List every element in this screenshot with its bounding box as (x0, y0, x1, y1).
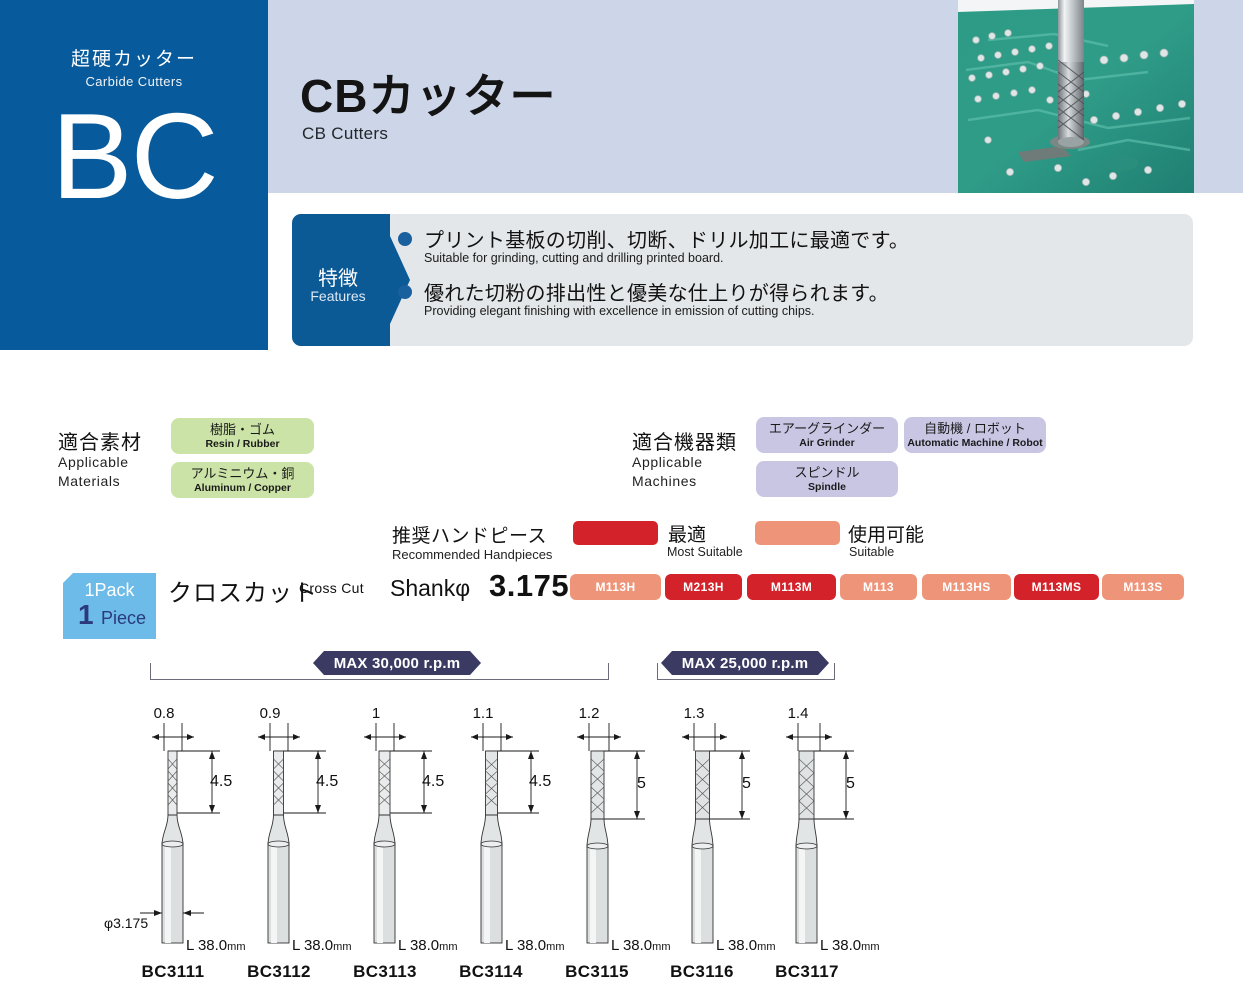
legend-label-en-most-suitable: Most Suitable (667, 545, 743, 559)
legend-swatch-suitable (755, 521, 840, 545)
cut-type-en: Cross Cut (299, 580, 364, 596)
pill-label-en: Automatic Machine / Robot (904, 437, 1046, 451)
shank-label: Shankφ (390, 575, 470, 602)
diameter-label: 1 (322, 705, 430, 722)
handpiece-chip-m113h[interactable]: M113H (570, 574, 661, 600)
bullet-icon (398, 285, 412, 299)
handpieces-label-jp: 推奨ハンドピース (392, 521, 547, 548)
rpm-badge-30000: MAX 30,000 r.p.m (313, 651, 481, 675)
page-title-jp: CBカッター (300, 60, 556, 126)
pack-badge-unit: Piece (101, 608, 146, 629)
handpiece-chip-m113hs[interactable]: M113HS (922, 574, 1011, 600)
category-name-jp: 超硬カッター (0, 44, 268, 71)
cut-type-jp: クロスカット (168, 573, 318, 608)
part-number-bc3117[interactable]: BC3117 (742, 962, 872, 982)
machines-label-en1: Applicable (632, 454, 703, 470)
handpiece-chip-m113ms[interactable]: M113MS (1014, 574, 1099, 600)
flute-length-label: 4.5 (316, 773, 338, 791)
pill-label-en: Resin / Rubber (171, 438, 314, 452)
category-code: BC (0, 95, 268, 217)
product-photo (958, 0, 1194, 193)
pill-label-jp: エアーグラインダー (756, 422, 898, 437)
pill-label-jp: 自動機 / ロボット (904, 422, 1046, 437)
pill-label-en: Aluminum / Copper (171, 482, 314, 496)
machine-pill-automatic-machine-robot: 自動機 / ロボット Automatic Machine / Robot (904, 417, 1046, 453)
flute-length-label: 5 (742, 775, 751, 793)
legend-label-jp-most-suitable: 最適 (668, 520, 706, 547)
handpieces-label-en: Recommended Handpieces (392, 547, 552, 562)
flute-length-label: 4.5 (210, 773, 232, 791)
product-drawing-bc3117: 1.4 L 38.0mm 5 (758, 705, 866, 955)
category-name-en: Carbide Cutters (0, 74, 268, 89)
features-tab-label-en: Features (292, 288, 384, 304)
diameter-label: 1.2 (535, 705, 643, 722)
pill-label-jp: アルミニウム・銅 (171, 467, 314, 482)
diameter-label: 1.3 (640, 705, 748, 722)
feature-text-en: Providing elegant finishing with excelle… (424, 304, 815, 318)
legend-swatch-most-suitable (573, 521, 658, 545)
shank-value: 3.175 (489, 568, 569, 604)
pill-label-en: Spindle (756, 481, 898, 495)
pack-badge-top: 1Pack (63, 580, 156, 601)
legend-label-jp-suitable: 使用可能 (848, 520, 924, 547)
features-tab-label-jp: 特徴 (292, 262, 384, 291)
product-drawing-bc3116: 1.3 L 38.0mm 5 (654, 705, 762, 955)
diameter-label: 1.1 (429, 705, 537, 722)
materials-label-en2: Materials (58, 473, 120, 489)
machine-pill-air-grinder: エアーグラインダー Air Grinder (756, 417, 898, 453)
product-drawing-bc3112: 0.9 L 38.0mm 4.5 (230, 705, 338, 955)
materials-label-jp: 適合素材 (58, 426, 142, 455)
pack-badge-count: 1 (78, 601, 94, 629)
feature-text-jp: プリント基板の切削、切断、ドリル加工に最適です。 (424, 224, 909, 253)
pill-label-jp: 樹脂・ゴム (171, 423, 314, 438)
feature-text-jp: 優れた切粉の排出性と優美な仕上りが得られます。 (424, 277, 889, 306)
rpm-badge-25000: MAX 25,000 r.p.m (661, 651, 829, 675)
machine-pill-spindle: スピンドル Spindle (756, 461, 898, 497)
flute-length-label: 5 (637, 775, 646, 793)
product-drawing-bc3113: 1 L 38.0mm 4.5 (336, 705, 444, 955)
product-drawing-bc3114: 1.1 L 38.0mm 4.5 (443, 705, 551, 955)
machines-label-jp: 適合機器類 (632, 426, 737, 455)
materials-label-en1: Applicable (58, 454, 129, 470)
handpiece-chip-m213h[interactable]: M213H (665, 574, 742, 600)
machines-label-en2: Machines (632, 473, 697, 489)
handpiece-chip-m113m[interactable]: M113M (747, 574, 836, 600)
diameter-label: 0.9 (216, 705, 324, 722)
feature-text-en: Suitable for grinding, cutting and drill… (424, 251, 724, 265)
handpiece-chip-m113s[interactable]: M113S (1102, 574, 1184, 600)
pill-label-jp: スピンドル (756, 466, 898, 481)
material-pill-resin-rubber: 樹脂・ゴム Resin / Rubber (171, 418, 314, 454)
bullet-icon (398, 232, 412, 246)
pill-label-en: Air Grinder (756, 437, 898, 451)
diameter-label: 1.4 (744, 705, 852, 722)
handpiece-chip-m113[interactable]: M113 (840, 574, 917, 600)
page-title-en: CB Cutters (302, 124, 388, 144)
flute-length-label: 4.5 (529, 773, 551, 791)
legend-label-en-suitable: Suitable (849, 545, 894, 559)
flute-length-label: 4.5 (422, 773, 444, 791)
overall-length-label: L 38.0mm (820, 937, 879, 954)
flute-length-label: 5 (846, 775, 855, 793)
material-pill-aluminum-copper: アルミニウム・銅 Aluminum / Copper (171, 462, 314, 498)
diameter-label: 0.8 (110, 705, 218, 722)
product-drawing-bc3115: 1.2 L 38.0mm 5 (549, 705, 657, 955)
product-drawing-bc3111: 0.8 L 38.0mm 4.5 (124, 705, 232, 955)
